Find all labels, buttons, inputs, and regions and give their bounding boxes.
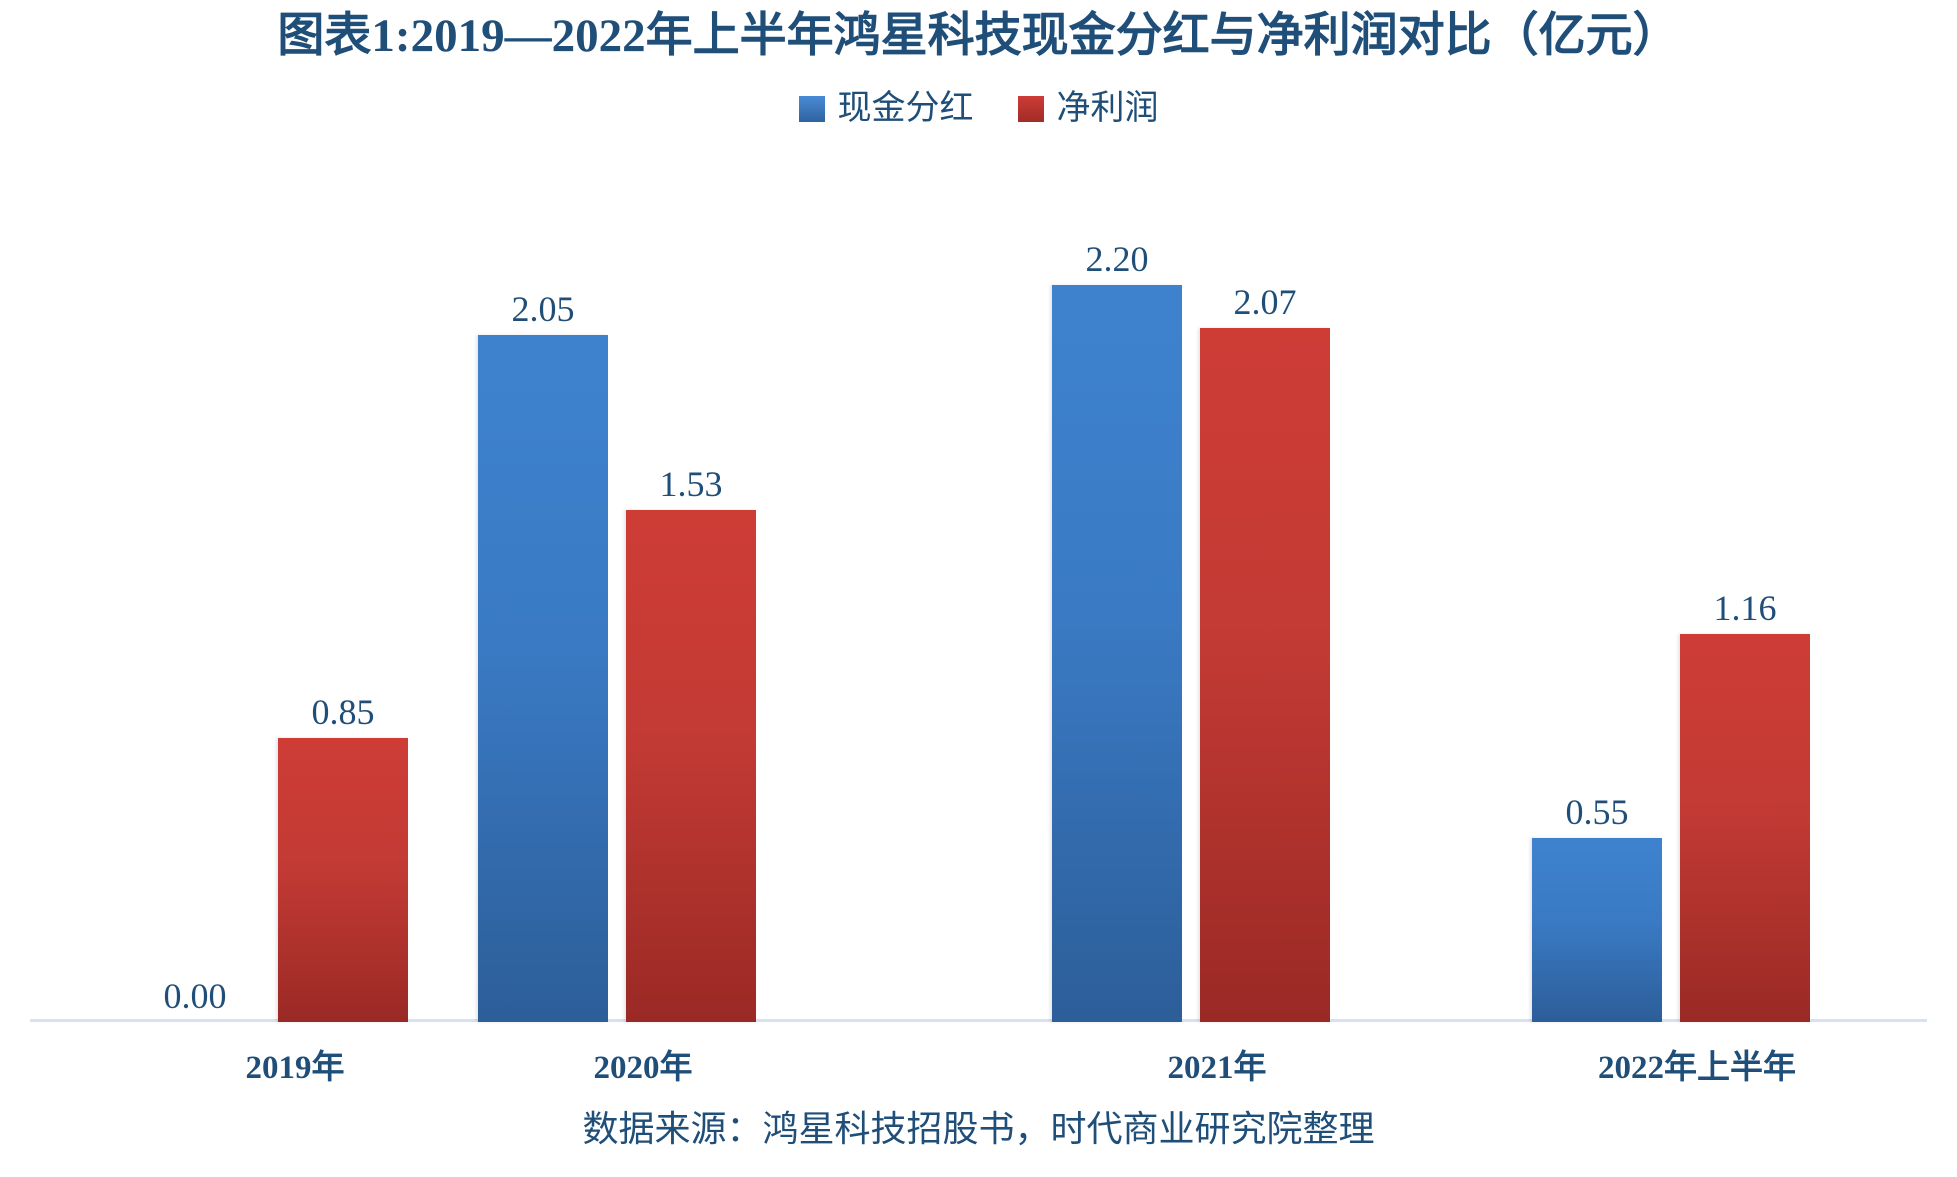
bar-rect xyxy=(478,335,608,1022)
bar-rect xyxy=(1200,328,1330,1022)
chart-title: 图表1:2019—2022年上半年鸿星科技现金分红与净利润对比（亿元） xyxy=(0,6,1957,66)
bar-rect xyxy=(1532,838,1662,1022)
bar-rect xyxy=(1680,634,1810,1022)
bar-group-2019: 0.00 0.85 xyxy=(130,140,460,1022)
bar-group-2021: 2.20 2.07 xyxy=(1052,140,1382,1022)
red-square-swatch-icon xyxy=(1018,96,1044,122)
plot-area: 0.00 0.85 2.05 1.53 2.20 xyxy=(0,140,1957,1022)
bar-value-label: 0.55 xyxy=(1502,792,1692,832)
bar-value-label: 1.16 xyxy=(1650,588,1840,628)
legend-item-cash-dividend[interactable]: 现金分红 xyxy=(799,91,974,127)
bar-group-2020: 2.05 1.53 xyxy=(478,140,808,1022)
bar-value-label: 2.07 xyxy=(1170,282,1360,322)
x-axis-label-2021: 2021年 xyxy=(1052,1044,1382,1092)
chart-container: 图表1:2019—2022年上半年鸿星科技现金分红与净利润对比（亿元） 现金分红… xyxy=(0,0,1957,1177)
bar-rect xyxy=(626,510,756,1022)
legend-item-net-profit[interactable]: 净利润 xyxy=(1018,91,1159,127)
bar-value-label: 0.85 xyxy=(248,692,438,732)
bar-value-label: 0.00 xyxy=(100,976,290,1016)
x-axis-label-2019: 2019年 xyxy=(130,1044,460,1092)
bar-rect xyxy=(278,738,408,1022)
source-note: 数据来源：鸿星科技招股书，时代商业研究院整理 xyxy=(0,1104,1957,1154)
x-axis-label-2022h1: 2022年上半年 xyxy=(1512,1044,1882,1092)
bar-rect xyxy=(1052,285,1182,1022)
blue-square-swatch-icon xyxy=(799,96,825,122)
bar-group-2022h1: 0.55 1.16 xyxy=(1532,140,1862,1022)
legend-label-net-profit: 净利润 xyxy=(1057,91,1159,127)
bar-value-label: 1.53 xyxy=(596,464,786,504)
x-axis-category-labels: 2019年 2020年 2021年 2022年上半年 xyxy=(0,1044,1957,1096)
chart-legend: 现金分红 净利润 xyxy=(0,86,1957,132)
legend-label-cash-dividend: 现金分红 xyxy=(838,91,974,127)
bar-value-label: 2.05 xyxy=(448,289,638,329)
bar-value-label: 2.20 xyxy=(1022,239,1212,279)
x-axis-label-2020: 2020年 xyxy=(478,1044,808,1092)
